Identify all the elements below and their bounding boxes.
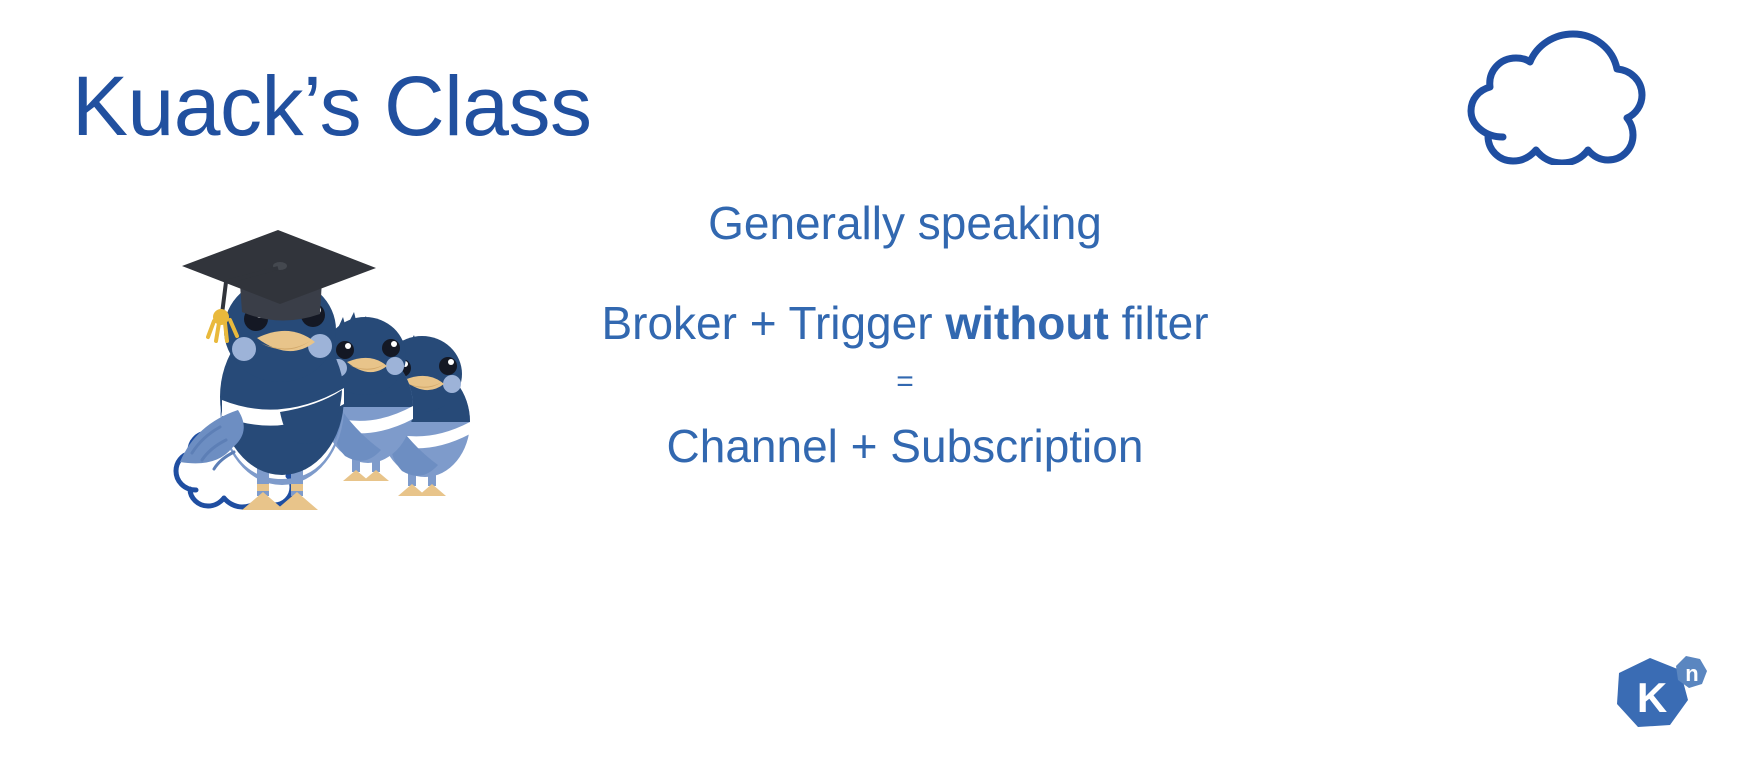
slide-canvas: Kuack’s Class <box>0 0 1742 762</box>
equation-suffix: filter <box>1109 297 1209 349</box>
logo-letter-k: K <box>1637 674 1667 721</box>
graduate-bird-mascot-illustration <box>160 222 510 522</box>
logo-letter-n: n <box>1685 661 1698 686</box>
equation-prefix: Broker + Trigger <box>601 297 945 349</box>
knative-logo: K n <box>1608 648 1718 748</box>
cloud-icon <box>1455 25 1655 165</box>
result-line: Channel + Subscription <box>520 419 1290 473</box>
body-text-block: Generally speaking Broker + Trigger with… <box>520 196 1290 473</box>
intro-line: Generally speaking <box>520 196 1290 250</box>
equation-emphasis: without <box>945 297 1109 349</box>
equals-sign: = <box>520 367 1290 397</box>
equation-line: Broker + Trigger without filter <box>520 296 1290 350</box>
page-title: Kuack’s Class <box>72 62 591 150</box>
